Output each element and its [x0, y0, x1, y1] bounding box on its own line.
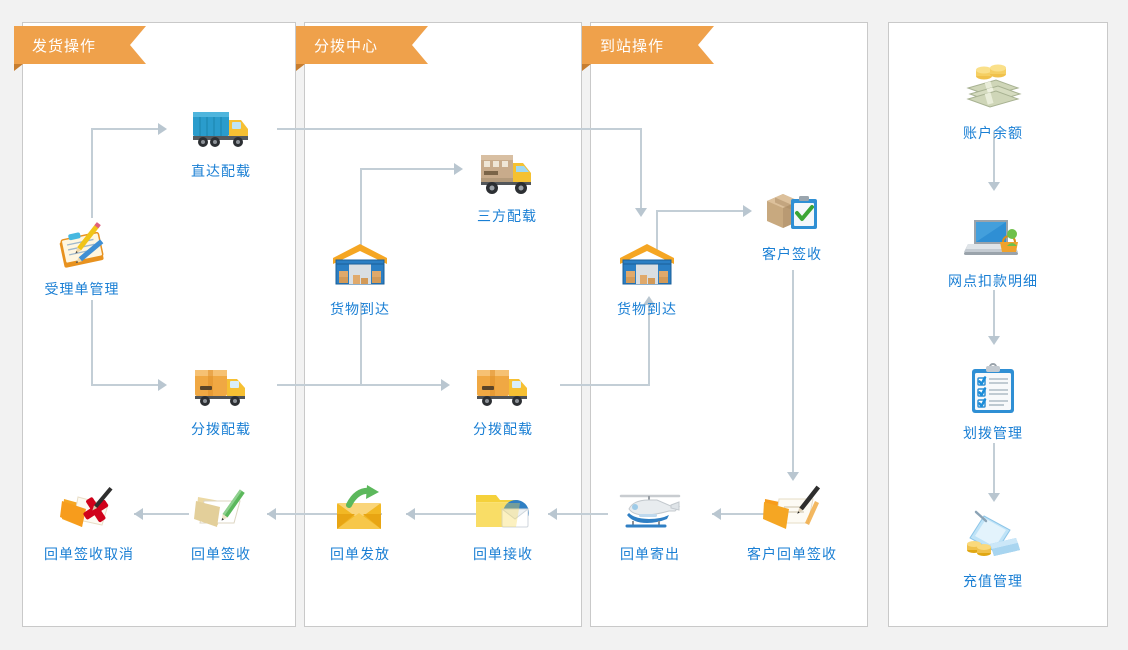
node-receipt-reception[interactable]: 回单接收	[448, 483, 558, 564]
node-acceptance-order-management[interactable]: 受理单管理	[27, 218, 137, 299]
connector-goods2-to-third-h	[360, 168, 455, 170]
node-label: 受理单管理	[45, 279, 120, 299]
node-label: 回单接收	[473, 544, 533, 564]
node-label: 划拨管理	[963, 423, 1023, 443]
coins-card-icon	[962, 510, 1024, 566]
connector-transfer-to-recharge	[993, 443, 995, 495]
connector-customer-to-receipt-v	[792, 270, 794, 475]
node-label: 充值管理	[963, 571, 1023, 591]
node-label: 账户余额	[963, 123, 1023, 143]
banner-label: 分拨中心	[314, 35, 378, 56]
connector-deduction-to-transfer	[993, 290, 995, 338]
folder-pen-icon	[190, 483, 252, 539]
node-branch-deduction-details[interactable]: 网点扣款明细	[918, 210, 1068, 291]
node-label: 网点扣款明细	[948, 271, 1038, 291]
node-receipt-signoff[interactable]: 回单签收	[166, 483, 276, 564]
node-distribution-loading-hub[interactable]: 分拨配载	[448, 358, 558, 439]
node-label: 直达配载	[191, 161, 251, 181]
connector-direct-to-arrival-v	[640, 128, 642, 210]
orange-box-truck-icon	[190, 358, 252, 414]
warehouse-icon	[329, 238, 391, 294]
connector-accept-to-sort-v	[91, 300, 93, 385]
node-third-party-loading[interactable]: 三方配载	[452, 145, 562, 226]
node-label: 分拨配载	[191, 419, 251, 439]
node-distribution-loading-dispatch[interactable]: 分拨配载	[166, 358, 276, 439]
banner-arrival-operations: 到站操作	[582, 26, 714, 64]
node-label: 客户回单签收	[747, 544, 837, 564]
node-label: 货物到达	[617, 299, 677, 319]
node-label: 回单发放	[330, 544, 390, 564]
folder-envelope-icon	[472, 483, 534, 539]
banner-label: 发货操作	[32, 35, 96, 56]
orange-folder-pen-icon	[761, 483, 823, 539]
node-label: 客户签收	[762, 244, 822, 264]
node-customer-signoff[interactable]: 客户签收	[737, 183, 847, 264]
orange-box-truck-icon	[472, 358, 534, 414]
parcel-checklist-icon	[761, 183, 823, 239]
arrow-direct-to-arrival	[635, 208, 647, 217]
banner-dispatch-operations: 发货操作	[14, 26, 146, 64]
node-customer-receipt-signoff[interactable]: 客户回单签收	[717, 483, 867, 564]
brown-box-truck-icon	[476, 145, 538, 201]
arrow-balance-to-deduction	[988, 182, 1000, 191]
node-direct-loading[interactable]: 直达配载	[166, 100, 276, 181]
node-transfer-management[interactable]: 划拨管理	[918, 362, 1068, 443]
laptop-icon	[962, 210, 1024, 266]
arrow-deduction-to-transfer	[988, 336, 1000, 345]
arrow-customer-to-receipt	[787, 472, 799, 481]
arrow-transfer-to-recharge	[988, 493, 1000, 502]
connector-goods3-to-customer-h	[656, 210, 744, 212]
node-label: 回单签收	[191, 544, 251, 564]
node-label: 分拨配载	[473, 419, 533, 439]
node-label: 三方配载	[477, 206, 537, 226]
connector-accept-to-sort-h	[91, 384, 159, 386]
envelope-send-icon	[329, 483, 391, 539]
connector-accept-to-direct-h	[91, 128, 159, 130]
node-receipt-mailing[interactable]: 回单寄出	[595, 483, 705, 564]
node-account-balance[interactable]: 账户余额	[918, 62, 1068, 143]
node-label: 回单寄出	[620, 544, 680, 564]
node-recharge-management[interactable]: 充值管理	[918, 510, 1068, 591]
blue-container-truck-icon	[190, 100, 252, 156]
checklist-clipboard-icon	[962, 362, 1024, 418]
clipboard-pencil-icon	[51, 218, 113, 274]
node-goods-arrival-hub[interactable]: 货物到达	[305, 238, 415, 319]
node-goods-arrival-station[interactable]: 货物到达	[592, 238, 702, 319]
workflow-diagram: 发货操作 分拨中心 到站操作	[0, 0, 1128, 650]
node-label: 回单签收取消	[44, 544, 134, 564]
connector-accept-to-direct-v	[91, 128, 93, 218]
connector-sort2-to-goods3-h	[560, 384, 650, 386]
node-receipt-issuance[interactable]: 回单发放	[305, 483, 415, 564]
warehouse-icon	[616, 238, 678, 294]
cash-stack-icon	[962, 62, 1024, 118]
banner-label: 到站操作	[600, 35, 664, 56]
orange-folder-cancel-icon	[58, 483, 120, 539]
banner-distribution-center: 分拨中心	[296, 26, 428, 64]
node-receipt-sign-cancel[interactable]: 回单签收取消	[14, 483, 164, 564]
node-label: 货物到达	[330, 299, 390, 319]
connector-direct-to-arrival-h	[277, 128, 642, 130]
helicopter-icon	[619, 483, 681, 539]
